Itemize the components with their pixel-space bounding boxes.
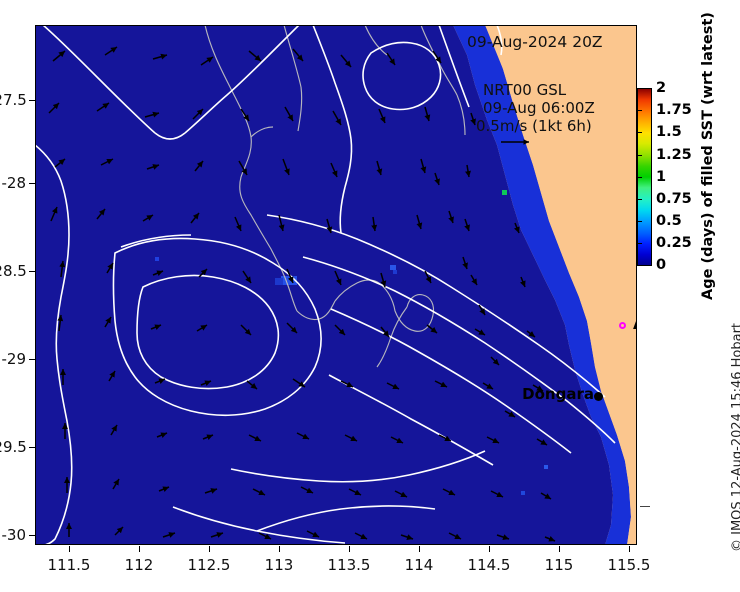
figure-root: 09-Aug-2024 20Z NRT00 GSL 09-Aug 06:00Z … [0,0,740,592]
x-tick [69,546,70,552]
argo-marker-icon[interactable] [619,322,626,329]
x-tick-label: 112 [125,556,154,574]
product-time-label: 09-Aug 06:00Z [483,99,595,117]
x-tick [279,546,280,552]
x-tick-label: 113.5 [328,556,371,574]
colorbar-tick [638,221,642,222]
y-tick-label: -28 [0,174,26,192]
x-tick [489,546,490,552]
x-tick-label: 114.5 [468,556,511,574]
colorbar-tick-label: 1.25 [656,147,692,163]
x-tick [139,546,140,552]
x-tick [349,546,350,552]
colorbar-tick [638,110,642,111]
colorbar-tick [638,155,642,156]
x-tick [209,546,210,552]
reference-vector-arrow [499,135,539,149]
colorbar-tick [638,265,642,266]
y-tick [29,183,35,184]
x-tick-label: 111.5 [48,556,91,574]
colorbar-tick-label: 1.5 [656,124,682,140]
map-timestamp-label: 09-Aug-2024 20Z [467,33,603,51]
colorbar-tick [638,177,642,178]
x-tick-label: 114 [405,556,434,574]
y-tick [29,447,35,448]
colorbar-tick [638,132,642,133]
product-name-label: NRT00 GSL [483,81,566,99]
colorbar-tick-label: 0.25 [656,235,692,251]
y-tick [29,100,35,101]
x-tick-label: 112.5 [188,556,231,574]
colorbar-tick [638,88,642,89]
y-tick-label: -29.5 [0,438,26,456]
y-tick-label: -27.5 [0,91,26,109]
dongara-marker-icon[interactable] [594,392,603,401]
colorbar-tick-label: 0 [656,257,666,273]
depth-legend-line-dark [640,506,650,507]
x-tick [629,546,630,552]
y-tick-label: -29 [0,350,26,368]
y-tick [29,271,35,272]
x-tick-label: 115 [545,556,574,574]
colorbar-axis-title: Age (days) of filled SST (wrt latest) [700,12,716,300]
colorbar-tick-label: 1.75 [656,102,692,118]
colorbar-tick-label: 0.75 [656,191,692,207]
colorbar-tick-label: 1 [656,169,666,185]
colorbar-tick [638,243,642,244]
x-tick [559,546,560,552]
colorbar-tick-label: 0.5 [656,213,682,229]
y-tick [29,359,35,360]
y-tick [29,535,35,536]
colorbar-tick [638,199,642,200]
copyright-credit: © IMOS 12-Aug-2024 15:46 Hobart [730,323,740,552]
x-tick [419,546,420,552]
colorbar-tick-label: 2 [656,80,666,96]
dongara-label: Dongara [522,385,594,403]
vector-scale-label: 0.5m/s (1kt 6h) [476,117,592,135]
y-tick-label: -30 [0,526,26,544]
y-tick-label: -28.5 [0,262,26,280]
x-tick-label: 115.5 [608,556,651,574]
map-plot-area[interactable]: 09-Aug-2024 20Z NRT00 GSL 09-Aug 06:00Z … [35,25,637,545]
x-tick-label: 113 [265,556,294,574]
argo-label: Argo [633,315,637,333]
